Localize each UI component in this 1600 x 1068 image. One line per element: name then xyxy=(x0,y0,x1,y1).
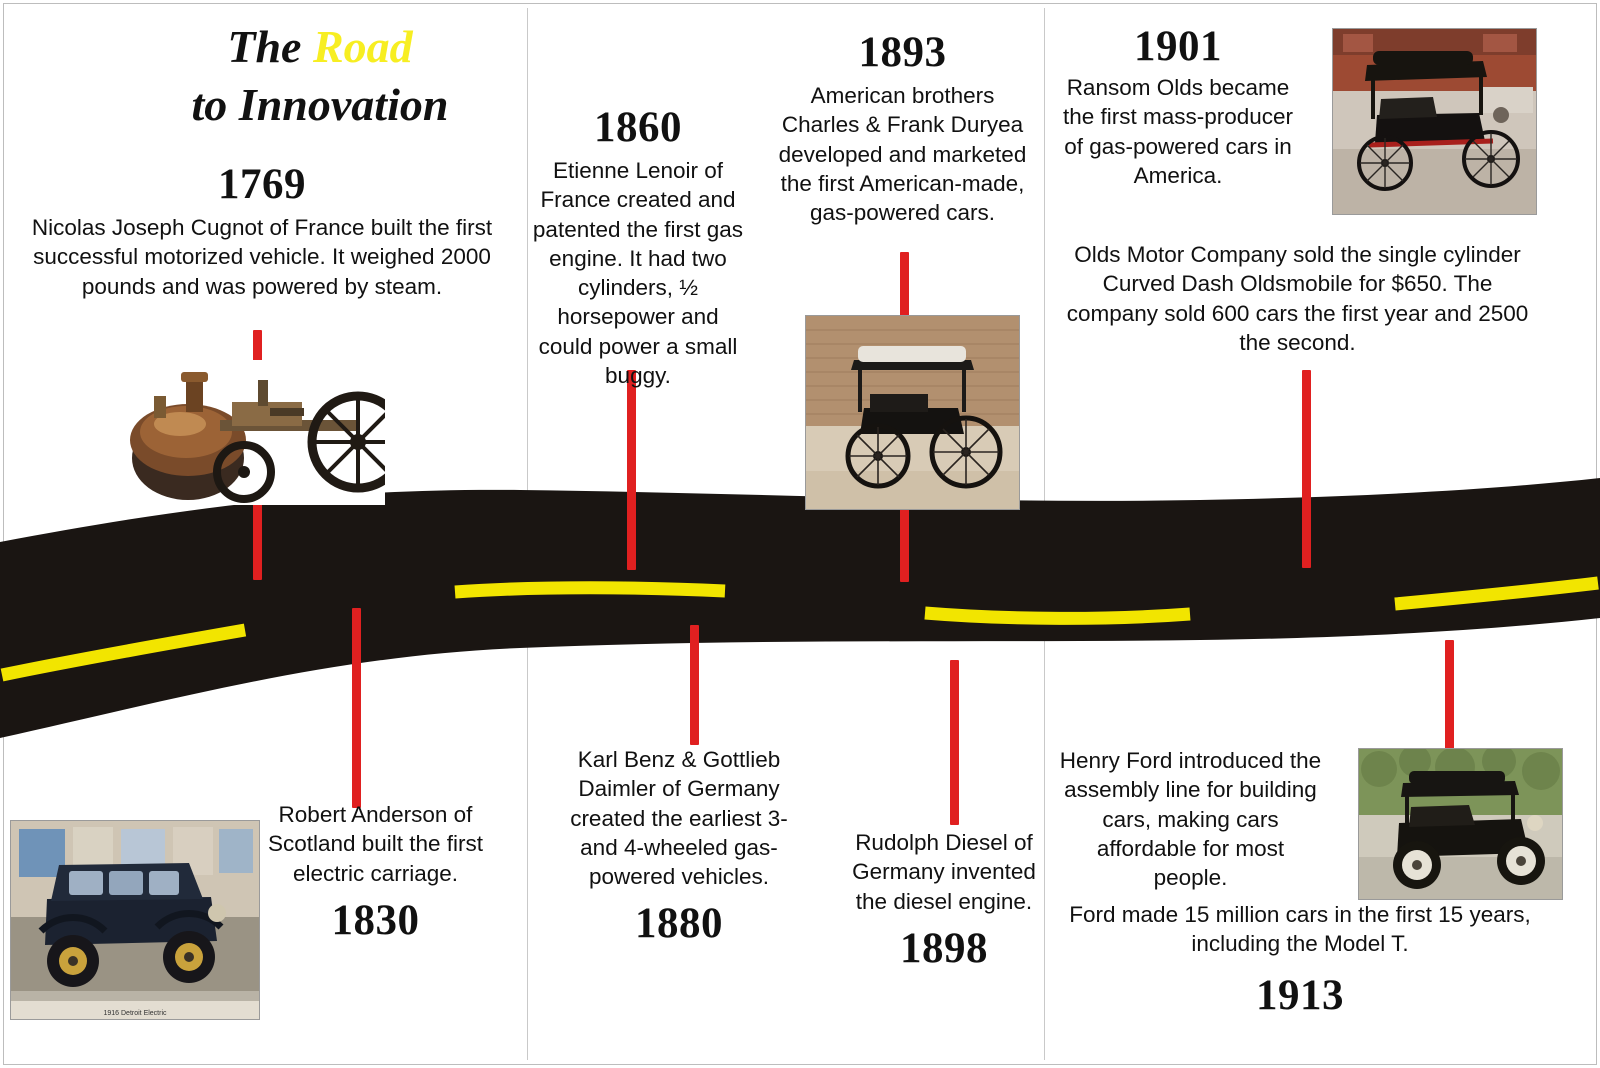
event-1898-text: Rudolph Diesel of Germany invented the d… xyxy=(845,828,1043,916)
event-1913: Henry Ford introduced the assembly line … xyxy=(1058,746,1323,892)
event-1913-text: Henry Ford introduced the assembly line … xyxy=(1058,746,1323,892)
title-text-the: The xyxy=(227,21,313,72)
event-1769: 1769 Nicolas Joseph Cugnot of France bui… xyxy=(8,162,516,301)
event-1860-text: Etienne Lenoir of France created and pat… xyxy=(528,156,748,390)
event-1901-year: 1901 xyxy=(1058,24,1298,69)
event-1893-text: American brothers Charles & Frank Duryea… xyxy=(770,81,1035,227)
event-1880-year: 1880 xyxy=(555,901,803,946)
tick-1880 xyxy=(690,625,699,745)
event-1901: 1901 Ransom Olds became the first mass-p… xyxy=(1058,24,1298,190)
event-1901-text2: Olds Motor Company sold the single cylin… xyxy=(1060,240,1535,357)
road-dash-2 xyxy=(455,588,725,592)
event-1769-text: Nicolas Joseph Cugnot of France built th… xyxy=(8,213,516,301)
road-dash-3 xyxy=(925,613,1190,618)
photo-detroit-electric-caption: 1916 Detroit Electric xyxy=(103,1010,166,1017)
tick-1898 xyxy=(950,660,959,825)
photo-model-t xyxy=(1358,748,1563,900)
title-line-1: The Road xyxy=(120,18,520,76)
event-1830: Robert Anderson of Scotland built the fi… xyxy=(258,800,493,943)
page-title: The Road to Innovation xyxy=(120,18,520,133)
event-1880-text: Karl Benz & Gottlieb Daimler of Germany … xyxy=(555,745,803,891)
event-1830-year: 1830 xyxy=(258,898,493,943)
tick-1860 xyxy=(627,370,636,570)
event-1901-detail: Olds Motor Company sold the single cylin… xyxy=(1060,240,1535,357)
event-1830-text: Robert Anderson of Scotland built the fi… xyxy=(258,800,493,888)
photo-duryea-car xyxy=(805,315,1020,510)
event-1898: Rudolph Diesel of Germany invented the d… xyxy=(845,828,1043,971)
title-text-road: Road xyxy=(313,21,413,72)
event-1913-text2: Ford made 15 million cars in the first 1… xyxy=(1050,900,1550,959)
photo-cugnot-steam-vehicle xyxy=(120,360,385,505)
event-1860-year: 1860 xyxy=(528,105,748,150)
event-1769-year: 1769 xyxy=(8,162,516,207)
event-1893: 1893 American brothers Charles & Frank D… xyxy=(770,30,1035,227)
event-1913-year: 1913 xyxy=(1050,973,1550,1018)
event-1901-text: Ransom Olds became the first mass-produc… xyxy=(1058,73,1298,190)
tick-1830 xyxy=(352,608,361,808)
event-1893-year: 1893 xyxy=(770,30,1035,75)
event-1860: 1860 Etienne Lenoir of France created an… xyxy=(528,105,748,390)
tick-1901 xyxy=(1302,370,1311,568)
photo-detroit-electric: 1916 Detroit Electric xyxy=(10,820,260,1020)
photo-curved-dash-oldsmobile xyxy=(1332,28,1537,215)
road-surface xyxy=(0,478,1600,738)
event-1913-detail: Ford made 15 million cars in the first 1… xyxy=(1050,900,1550,1018)
event-1898-year: 1898 xyxy=(845,926,1043,971)
infographic-canvas: The Road to Innovation 1769 Nicolas Jose… xyxy=(0,0,1600,1068)
title-line-2: to Innovation xyxy=(120,76,520,134)
event-1880: Karl Benz & Gottlieb Daimler of Germany … xyxy=(555,745,803,946)
